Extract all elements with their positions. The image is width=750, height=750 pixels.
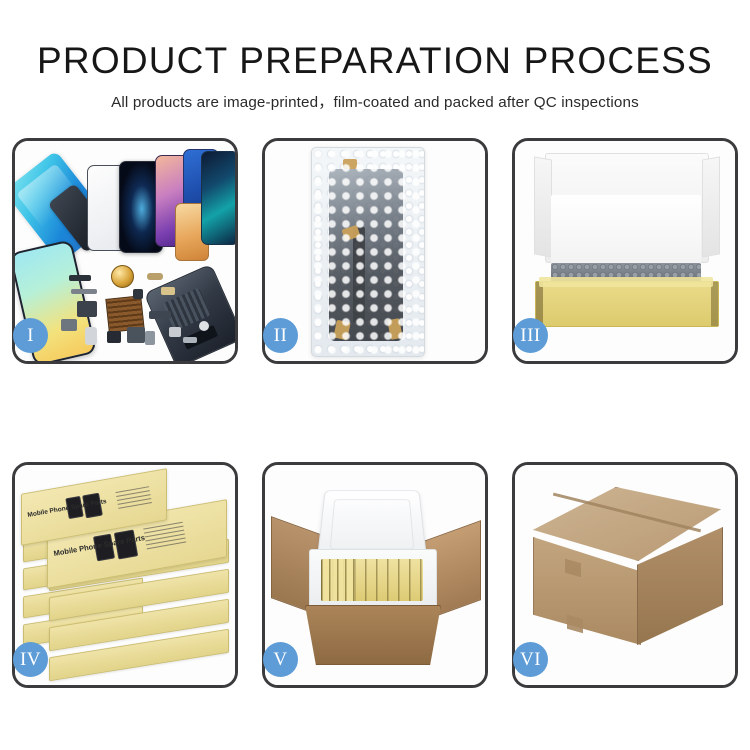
- spare-part-graphic: [133, 289, 143, 299]
- page-title: PRODUCT PREPARATION PROCESS: [0, 0, 750, 81]
- step-badge-6: VI: [513, 642, 548, 677]
- outer-carton-graphic: [305, 605, 441, 665]
- step-3-image: [515, 141, 735, 361]
- process-step-6: VI: [512, 462, 738, 688]
- step-badge-2: II: [263, 318, 298, 353]
- step-5-image: [265, 465, 485, 685]
- step-4-image: Mobile Phone Spare Parts Mobile Phone Sp…: [15, 465, 235, 685]
- process-step-3: III: [512, 138, 738, 364]
- phone-teal-graphic: [201, 151, 235, 245]
- step-1-image: [15, 141, 235, 361]
- spare-part-graphic: [85, 327, 97, 345]
- step-badge-4: IV: [13, 642, 48, 677]
- spare-part-graphic: [127, 327, 145, 343]
- process-steps-grid: I II III: [12, 138, 738, 690]
- spare-part-graphic: [69, 275, 91, 281]
- wrapped-part-graphic: [329, 169, 403, 341]
- step-badge-3: III: [513, 318, 548, 353]
- process-step-1: I: [12, 138, 238, 364]
- spare-part-graphic: [77, 301, 97, 317]
- step-2-image: [265, 141, 485, 361]
- kraft-box-base-graphic: [535, 281, 719, 327]
- header: PRODUCT PREPARATION PROCESS All products…: [0, 0, 750, 112]
- spare-part-graphic: [147, 273, 163, 280]
- spare-part-graphic: [71, 289, 97, 294]
- camera-ring-graphic: [111, 265, 134, 288]
- product-preparation-infographic: PRODUCT PREPARATION PROCESS All products…: [0, 0, 750, 750]
- tape-graphic: [343, 159, 357, 169]
- page-subtitle: All products are image-printed，film-coat…: [0, 81, 750, 112]
- spare-part-graphic: [199, 321, 209, 331]
- spare-part-graphic: [169, 327, 181, 337]
- process-step-2: II: [262, 138, 488, 364]
- spare-part-graphic: [61, 319, 77, 331]
- process-step-4: Mobile Phone Spare Parts Mobile Phone Sp…: [12, 462, 238, 688]
- spare-part-graphic: [145, 331, 155, 345]
- process-step-5: V: [262, 462, 488, 688]
- spare-part-graphic: [149, 311, 171, 319]
- spare-part-graphic: [107, 331, 121, 343]
- step-6-image: [515, 465, 735, 685]
- step-badge-1: I: [13, 318, 48, 353]
- spare-part-graphic: [161, 287, 175, 295]
- spare-part-graphic: [183, 337, 197, 343]
- kraft-box-front-edge-graphic: [539, 277, 713, 287]
- box-stack-graphic: Mobile Phone Spare Parts Mobile Phone Sp…: [21, 479, 231, 671]
- foam-sheet-graphic: [551, 195, 701, 267]
- packed-yellow-boxes-graphic: [321, 559, 423, 601]
- step-badge-5: V: [263, 642, 298, 677]
